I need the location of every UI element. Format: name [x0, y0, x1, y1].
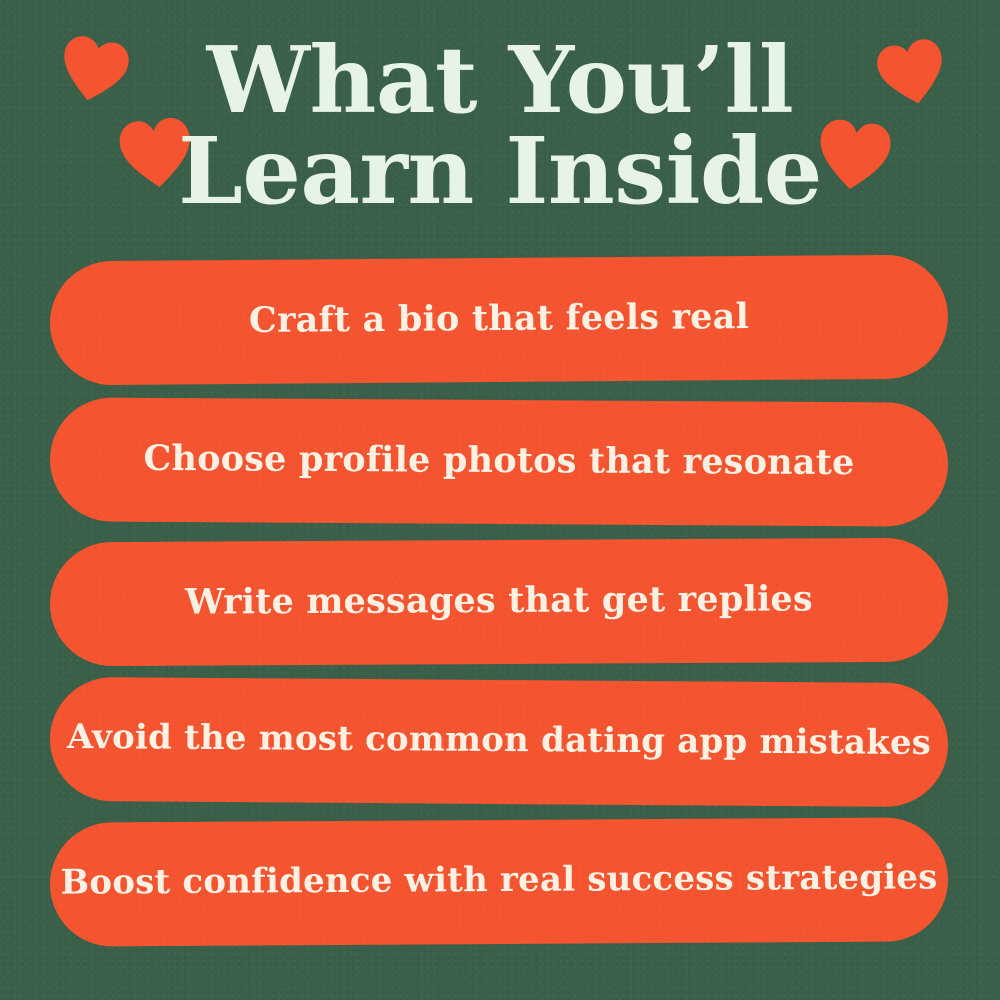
list-item-label: Write messages that get replies [185, 578, 813, 622]
poster-canvas: What You’ll Learn Inside Craft a bio tha… [0, 0, 1000, 1000]
list-item[interactable]: Craft a bio that feels real [50, 254, 949, 385]
list-item-label: Avoid the most common dating app mistake… [67, 717, 931, 763]
list-item-label: Choose profile photos that resonate [143, 437, 854, 482]
list-item[interactable]: Avoid the most common dating app mistake… [50, 677, 949, 807]
list-item[interactable]: Choose profile photos that resonate [50, 397, 949, 526]
list-item-label: Boost confidence with real success strat… [60, 857, 937, 902]
list-item[interactable]: Boost confidence with real success strat… [50, 817, 949, 946]
list-item[interactable]: Write messages that get replies [50, 538, 949, 667]
list-item-label: Craft a bio that feels real [249, 296, 749, 341]
benefit-list: Craft a bio that feels real Choose profi… [0, 0, 1000, 1000]
